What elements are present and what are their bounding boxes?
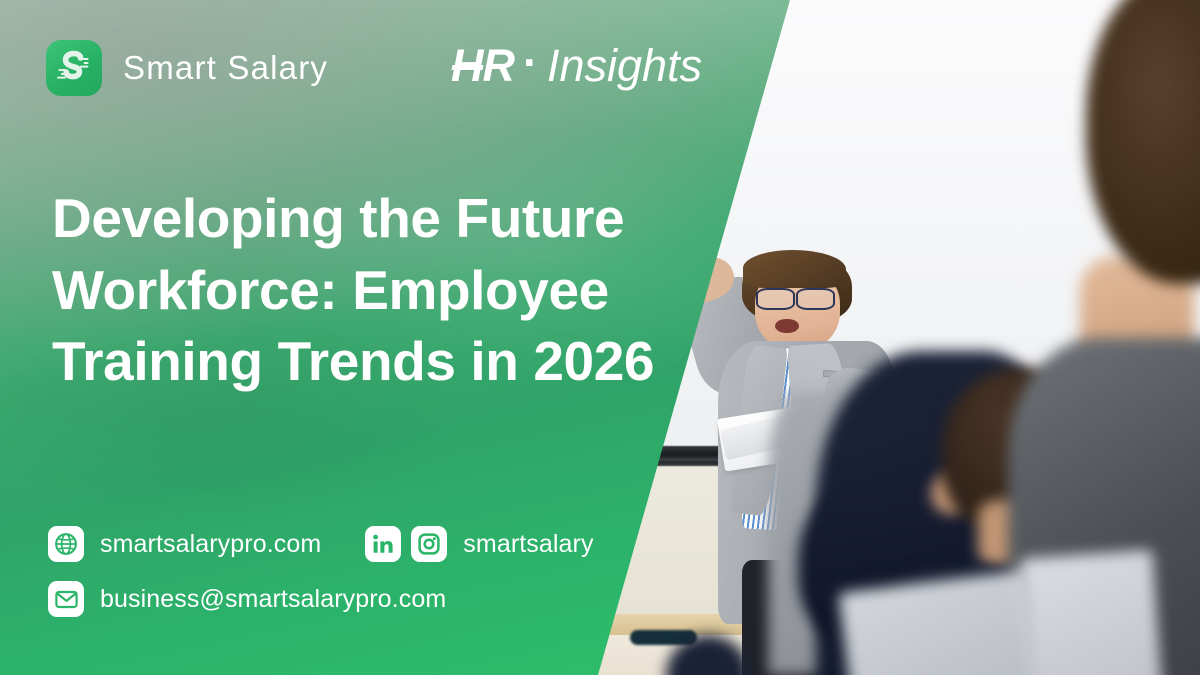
contact-block: smartsalarypro.com [48,521,594,622]
contact-row-website: smartsalarypro.com [48,521,594,567]
envelope-icon [48,581,84,617]
email-address[interactable]: business@smartsalarypro.com [100,585,446,614]
brand-name: Smart Salary [123,49,328,87]
banner-content: Smart Salary HR · Insights Developing th… [0,0,1200,675]
globe-icon [48,526,84,562]
smart-salary-s-mark-icon [46,40,102,96]
social-handle[interactable]: smartsalary [463,530,593,559]
contact-row-email: business@smartsalarypro.com [48,576,594,622]
page-title: Developing the Future Workforce: Employe… [52,183,672,398]
hr-insights-banner: Smart Salary HR · Insights Developing th… [0,0,1200,675]
linkedin-icon[interactable] [365,526,401,562]
hr-separator: · [516,37,547,89]
headline-line-2: Workforce: Employee [52,255,672,327]
website-url[interactable]: smartsalarypro.com [100,530,321,559]
brand-lockup[interactable]: Smart Salary [46,40,328,96]
headline-line-3: Training Trends in 2026 [52,326,672,398]
headline-line-1: Developing the Future [52,183,672,255]
social-links: smartsalary [365,526,593,562]
instagram-icon[interactable] [411,526,447,562]
hr-insights-word: Insights [547,40,702,92]
hr-insights-logo[interactable]: HR · Insights [451,40,702,92]
hr-crossbar-icon [451,65,483,70]
